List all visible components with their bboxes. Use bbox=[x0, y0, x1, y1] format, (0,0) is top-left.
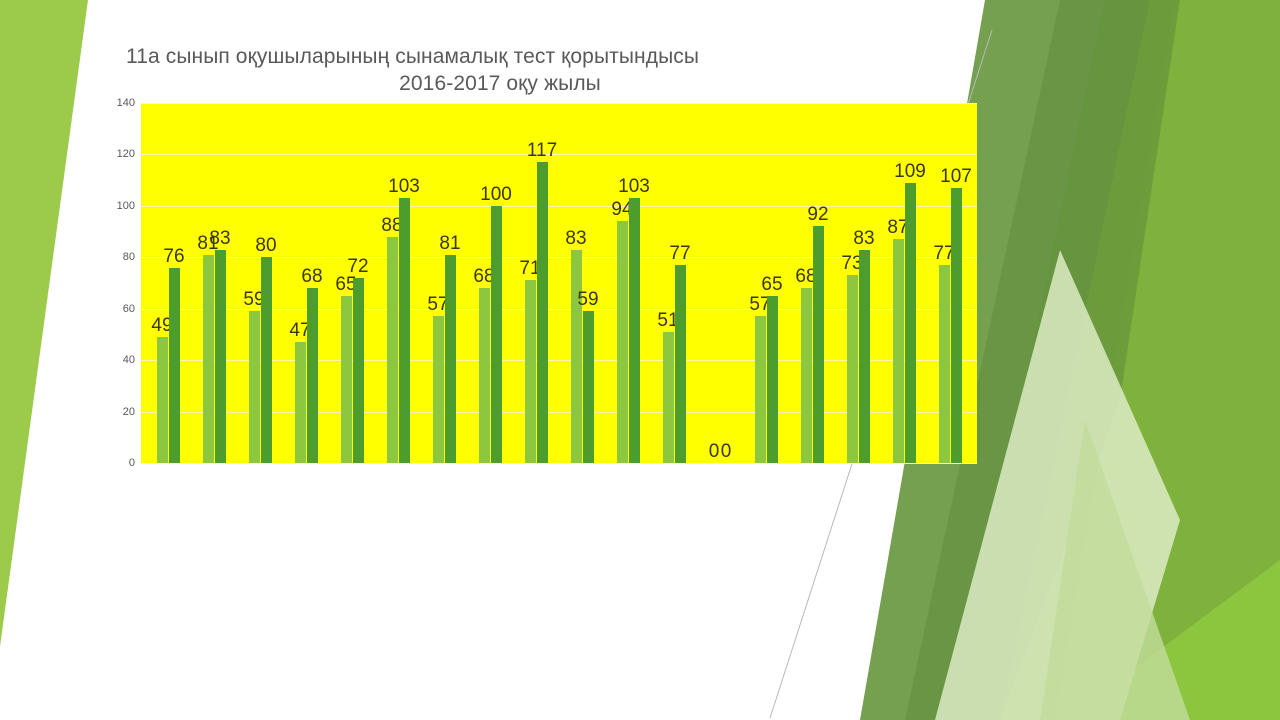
bar-s2: 80 bbox=[261, 257, 272, 463]
title-line-1: 11а сынып оқушыларының сынамалық тест қо… bbox=[120, 44, 880, 71]
bar-s2: 68 bbox=[307, 288, 318, 463]
bar-group: 8183 bbox=[191, 103, 237, 463]
bar-s2: 109 bbox=[905, 183, 916, 463]
bar-s2: 107 bbox=[951, 188, 962, 463]
bar-value-label: 72 bbox=[347, 257, 368, 276]
y-axis: 020406080100120140 bbox=[105, 103, 135, 463]
bar-value-label: 109 bbox=[894, 162, 926, 181]
bar-group: 87109 bbox=[881, 103, 927, 463]
bar-group: 5177 bbox=[651, 103, 697, 463]
plot-area: 4976818359804768657288103578168100711178… bbox=[141, 103, 977, 463]
bar-group: 71117 bbox=[513, 103, 559, 463]
bar-s1: 88 bbox=[387, 237, 398, 463]
bar-s2: 72 bbox=[353, 278, 364, 463]
bar-group: 77107 bbox=[927, 103, 973, 463]
bar-group: 88103 bbox=[375, 103, 421, 463]
bar-value-label: 117 bbox=[527, 141, 557, 160]
bar-value-label: 107 bbox=[940, 167, 972, 186]
bar-value-label: 76 bbox=[163, 247, 184, 266]
bar-s1: 83 bbox=[571, 250, 582, 463]
bar-group: 5781 bbox=[421, 103, 467, 463]
bar-group: 94103 bbox=[605, 103, 651, 463]
bar-group: 6892 bbox=[789, 103, 835, 463]
bar-s1: 47 bbox=[295, 342, 306, 463]
bar-value-label: 83 bbox=[853, 229, 874, 248]
bar-value-label: 81 bbox=[439, 234, 460, 253]
bar-group: 6572 bbox=[329, 103, 375, 463]
bar-s2: 117 bbox=[537, 162, 548, 463]
bar-value-label: 80 bbox=[255, 236, 276, 255]
bar-s2: 100 bbox=[491, 206, 502, 463]
bar-value-label: 83 bbox=[209, 229, 230, 248]
bar-s2: 76 bbox=[169, 268, 180, 463]
y-axis-tick-label: 60 bbox=[123, 303, 135, 315]
bar-value-label: 103 bbox=[388, 177, 420, 196]
bar-value-label: 103 bbox=[618, 177, 650, 196]
bar-s2: 81 bbox=[445, 255, 456, 463]
bar-value-label: 100 bbox=[480, 185, 512, 204]
bar-group: 7383 bbox=[835, 103, 881, 463]
bar-value-label: 92 bbox=[807, 205, 828, 224]
bar-s1: 77 bbox=[939, 265, 950, 463]
bar-s2: 83 bbox=[215, 250, 226, 463]
bar-s2: 59 bbox=[583, 311, 594, 463]
bar-group: 5765 bbox=[743, 103, 789, 463]
bar-value-label: 83 bbox=[565, 229, 586, 248]
bar-s1: 87 bbox=[893, 239, 904, 463]
bar-s2: 92 bbox=[813, 226, 824, 463]
bar-s1: 94 bbox=[617, 221, 628, 463]
y-axis-tick-label: 0 bbox=[129, 457, 135, 469]
bar-value-label: 0 bbox=[709, 442, 720, 461]
bar-group: 5980 bbox=[237, 103, 283, 463]
bar-value-label: 59 bbox=[577, 290, 598, 309]
y-axis-tick-label: 140 bbox=[117, 97, 135, 109]
bar-s2: 65 bbox=[767, 296, 778, 463]
bar-s1: 68 bbox=[801, 288, 812, 463]
bar-chart: 020406080100120140 497681835980476865728… bbox=[105, 96, 985, 476]
bar-s1: 73 bbox=[847, 275, 858, 463]
bar-group: 4976 bbox=[145, 103, 191, 463]
bar-value-label: 65 bbox=[761, 275, 782, 294]
bar-group: 00 bbox=[697, 103, 743, 463]
bar-group: 4768 bbox=[283, 103, 329, 463]
y-axis-tick-label: 80 bbox=[123, 251, 135, 263]
bar-s1: 51 bbox=[663, 332, 674, 463]
bar-s1: 49 bbox=[157, 337, 168, 463]
bar-groups: 4976818359804768657288103578168100711178… bbox=[141, 103, 977, 463]
y-axis-tick-label: 40 bbox=[123, 354, 135, 366]
bar-value-label: 68 bbox=[301, 267, 322, 286]
bar-s1: 57 bbox=[433, 316, 444, 463]
y-axis-tick-label: 120 bbox=[117, 148, 135, 160]
bar-s1: 65 bbox=[341, 296, 352, 463]
bar-s1: 68 bbox=[479, 288, 490, 463]
bar-value-label: 0 bbox=[721, 442, 732, 461]
page-title: 11а сынып оқушыларының сынамалық тест қо… bbox=[120, 44, 880, 98]
bar-s2: 103 bbox=[399, 198, 410, 463]
bar-s1: 81 bbox=[203, 255, 214, 463]
title-line-2: 2016-2017 оқу жылы bbox=[120, 71, 880, 98]
bar-s1: 59 bbox=[249, 311, 260, 463]
bar-s2: 83 bbox=[859, 250, 870, 463]
bar-group: 8359 bbox=[559, 103, 605, 463]
bar-s2: 103 bbox=[629, 198, 640, 463]
gridline bbox=[141, 463, 977, 464]
slide-content: 11а сынып оқушыларының сынамалық тест қо… bbox=[0, 0, 1280, 720]
bar-group: 68100 bbox=[467, 103, 513, 463]
bar-s2: 77 bbox=[675, 265, 686, 463]
y-axis-tick-label: 20 bbox=[123, 406, 135, 418]
bar-value-label: 77 bbox=[669, 244, 690, 263]
bar-s1: 71 bbox=[525, 280, 536, 463]
bar-s1: 57 bbox=[755, 316, 766, 463]
y-axis-tick-label: 100 bbox=[117, 200, 135, 212]
